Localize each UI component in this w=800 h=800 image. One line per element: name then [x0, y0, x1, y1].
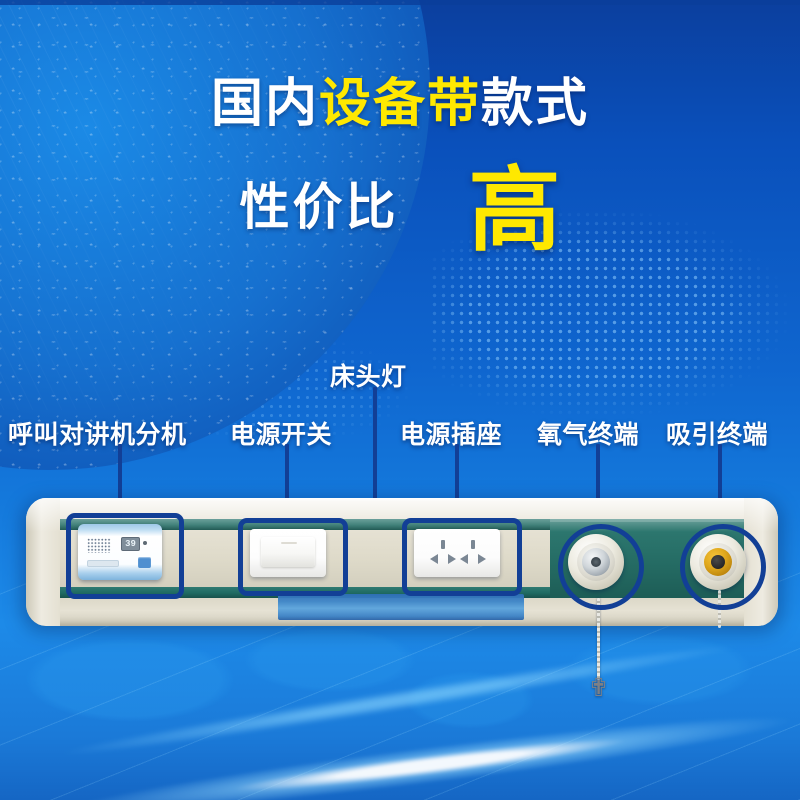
callout-power-switch-label: 电源开关	[230, 415, 332, 451]
poster-canvas: 国内设备带款式 性价比 高 呼叫对讲机分机 电源开关 床头灯 电源插座 氧气终端…	[0, 0, 800, 800]
pull-cord-weight-icon[interactable]: ✟	[586, 676, 611, 701]
panel-blue-light-strip	[278, 594, 524, 620]
highlight-box-power-switch	[238, 518, 348, 596]
callout-bed-lamp-label: 床头灯	[330, 357, 407, 393]
callout-layer: 呼叫对讲机分机 电源开关 床头灯 电源插座 氧气终端 吸引终端	[0, 0, 800, 800]
highlight-circle-suction	[680, 524, 766, 610]
callout-oxygen-label: 氧气终端	[537, 415, 639, 451]
callout-power-socket-label: 电源插座	[400, 415, 502, 451]
highlight-box-power-socket	[402, 518, 522, 596]
callout-suction-label: 吸引终端	[666, 415, 768, 451]
panel-end-cap-left	[26, 498, 60, 626]
callout-intercom-label: 呼叫对讲机分机	[8, 415, 187, 451]
highlight-circle-oxygen	[558, 524, 644, 610]
highlight-box-intercom	[66, 513, 184, 599]
pull-cord[interactable]	[597, 598, 600, 680]
